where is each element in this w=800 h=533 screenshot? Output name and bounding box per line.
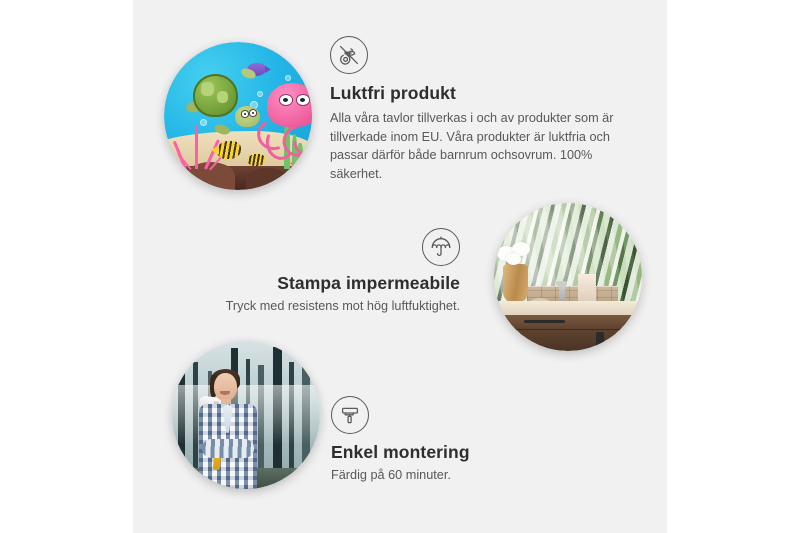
promo-feature-graphic: Luktfri produkt Alla våra tavlor tillver… — [0, 0, 800, 533]
drawer-handle — [524, 320, 565, 322]
umbrella-icon — [422, 228, 460, 266]
no-spray-bottle-icon — [330, 36, 368, 74]
gold-vase — [503, 264, 528, 302]
photo-bathroom-botanical-mural — [494, 203, 642, 351]
feature-title: Stampa impermeabile — [200, 273, 460, 294]
ocean-rocks — [164, 166, 312, 190]
woman-with-paint-roller — [193, 371, 270, 489]
feature-title: Enkel montering — [331, 442, 591, 463]
feature-body: Färdig på 60 minuter. — [331, 466, 591, 485]
bubble-icon — [285, 75, 291, 81]
yellow-striped-fish — [217, 141, 241, 159]
pink-coral — [179, 125, 220, 169]
cabinet-handle — [617, 332, 624, 347]
feature-body: Tryck med resistens mot hög luftfuktighe… — [200, 297, 460, 316]
cabinet-handle — [596, 332, 603, 347]
feature-block-odorless: Luktfri produkt Alla våra tavlor tillver… — [330, 36, 622, 184]
white-flowers — [494, 239, 538, 269]
feature-body: Alla våra tavlor tillverkas i och av pro… — [330, 109, 622, 184]
pink-octopus — [256, 83, 312, 154]
feature-title: Luktfri produkt — [330, 83, 622, 104]
yellow-striped-fish-small — [248, 154, 264, 166]
sea-turtle — [189, 70, 257, 129]
wooden-vanity — [500, 315, 642, 351]
faucet — [559, 281, 565, 302]
photo-ocean-kids-mural — [164, 42, 312, 190]
feature-block-mounting: Enkel montering Färdig på 60 minuter. — [331, 396, 591, 485]
folded-arms — [202, 439, 254, 458]
paint-roller-icon — [331, 396, 369, 434]
feature-block-waterproof: Stampa impermeabile Tryck med resistens … — [200, 228, 460, 316]
face — [214, 373, 237, 401]
photo-woman-forest-mural — [172, 341, 320, 489]
